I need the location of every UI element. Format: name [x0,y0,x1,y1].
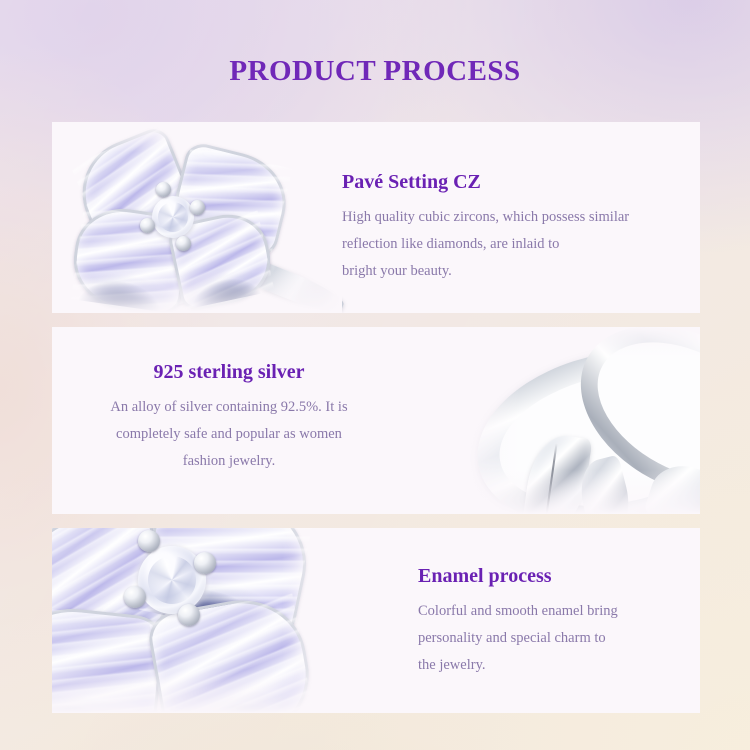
panel-3-body-line-2: personality and special charm to [418,625,618,652]
prong-east-icon [194,552,216,574]
panel-1-heading: Pavé Setting CZ [342,169,629,195]
page-title: PRODUCT PROCESS [0,52,750,90]
panel-3-text-block: Enamel process Colorful and smooth ename… [418,563,618,679]
panel-2-body-line-1: An alloy of silver containing 92.5%. It … [64,394,394,421]
enamel-flower-macro-image [52,528,352,713]
panel-1-body: High quality cubic zircons, which posses… [342,204,629,285]
enamel-flower-ring-image [52,122,342,313]
panel-3-body-line-3: the jewelry. [418,652,618,679]
panel-3-heading: Enamel process [418,563,618,589]
prong-north-icon [138,530,160,552]
prong-west-icon [140,218,155,233]
silver-ring-band-image [424,327,700,514]
panel-2-body-line-2: completely safe and popular as women [64,421,394,448]
prong-west-icon [124,586,146,608]
image-fade-top [424,327,700,357]
panel-1-body-line-2: reflection like diamonds, are inlaid to [342,231,629,258]
panel-enamel-process: Enamel process Colorful and smooth ename… [52,528,700,713]
prong-south-icon [176,236,191,251]
prong-north-icon [156,182,171,197]
image-fade-bottom [52,269,342,313]
panel-1-body-line-3: bright your beauty. [342,258,629,285]
panel-3-body: Colorful and smooth enamel bring persona… [418,598,618,679]
panel-2-body-line-3: fashion jewelry. [64,448,394,475]
panel-pave-setting-cz: Pavé Setting CZ High quality cubic zirco… [52,122,700,313]
image-fade-bottom [52,669,352,713]
panel-925-sterling-silver: 925 sterling silver An alloy of silver c… [52,327,700,514]
prong-south-icon [178,604,200,626]
cubic-zirconia-stone [152,196,194,238]
panel-3-body-line-1: Colorful and smooth enamel bring [418,598,618,625]
image-fade-top [52,122,342,152]
prong-east-icon [190,200,205,215]
product-process-infographic: PRODUCT PROCESS Pavé Setting CZ [0,0,750,750]
panel-2-heading: 925 sterling silver [64,359,394,385]
panel-2-body: An alloy of silver containing 92.5%. It … [64,394,394,475]
image-fade-bottom [424,470,700,514]
panel-1-text-block: Pavé Setting CZ High quality cubic zirco… [342,169,629,285]
panel-2-text-block: 925 sterling silver An alloy of silver c… [64,359,394,475]
panel-1-body-line-1: High quality cubic zircons, which posses… [342,204,629,231]
